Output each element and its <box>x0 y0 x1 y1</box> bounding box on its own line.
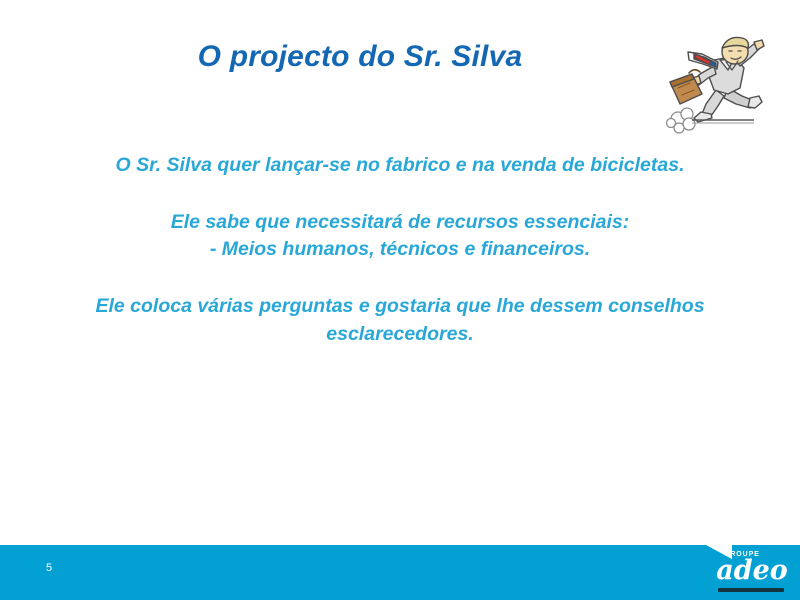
body-paragraph-1-line-2: bicicletas. <box>590 154 684 176</box>
logo-underline <box>718 588 784 592</box>
logo-adeo-text: adeo <box>714 557 790 584</box>
running-businessman-icon <box>658 26 776 138</box>
page-number: 5 <box>46 563 52 574</box>
body-paragraph-1: O Sr. Silva quer lançar-se no fabrico e … <box>70 152 730 180</box>
body-paragraph-1-line-1: O Sr. Silva quer lançar-se no fabrico e … <box>116 154 585 176</box>
slide-body: O Sr. Silva quer lançar-se no fabrico e … <box>70 152 730 348</box>
body-paragraph-2-line-1: Ele sabe que necessitará de recursos ess… <box>171 211 630 233</box>
body-paragraph-3: Ele coloca várias perguntas e gostaria q… <box>70 293 730 348</box>
body-paragraph-2: Ele sabe que necessitará de recursos ess… <box>70 209 730 264</box>
groupe-adeo-logo: GROUPE adeo <box>714 548 790 596</box>
body-paragraph-3-line-1: Ele coloca várias perguntas e gostaria q… <box>95 295 524 317</box>
body-paragraph-2-line-2: - Meios humanos, técnicos e financeiros. <box>210 238 590 260</box>
slide-canvas: O projecto do Sr. Silva <box>0 0 800 600</box>
page-title: O projecto do Sr. Silva <box>60 40 660 73</box>
footer-bar <box>0 545 800 600</box>
